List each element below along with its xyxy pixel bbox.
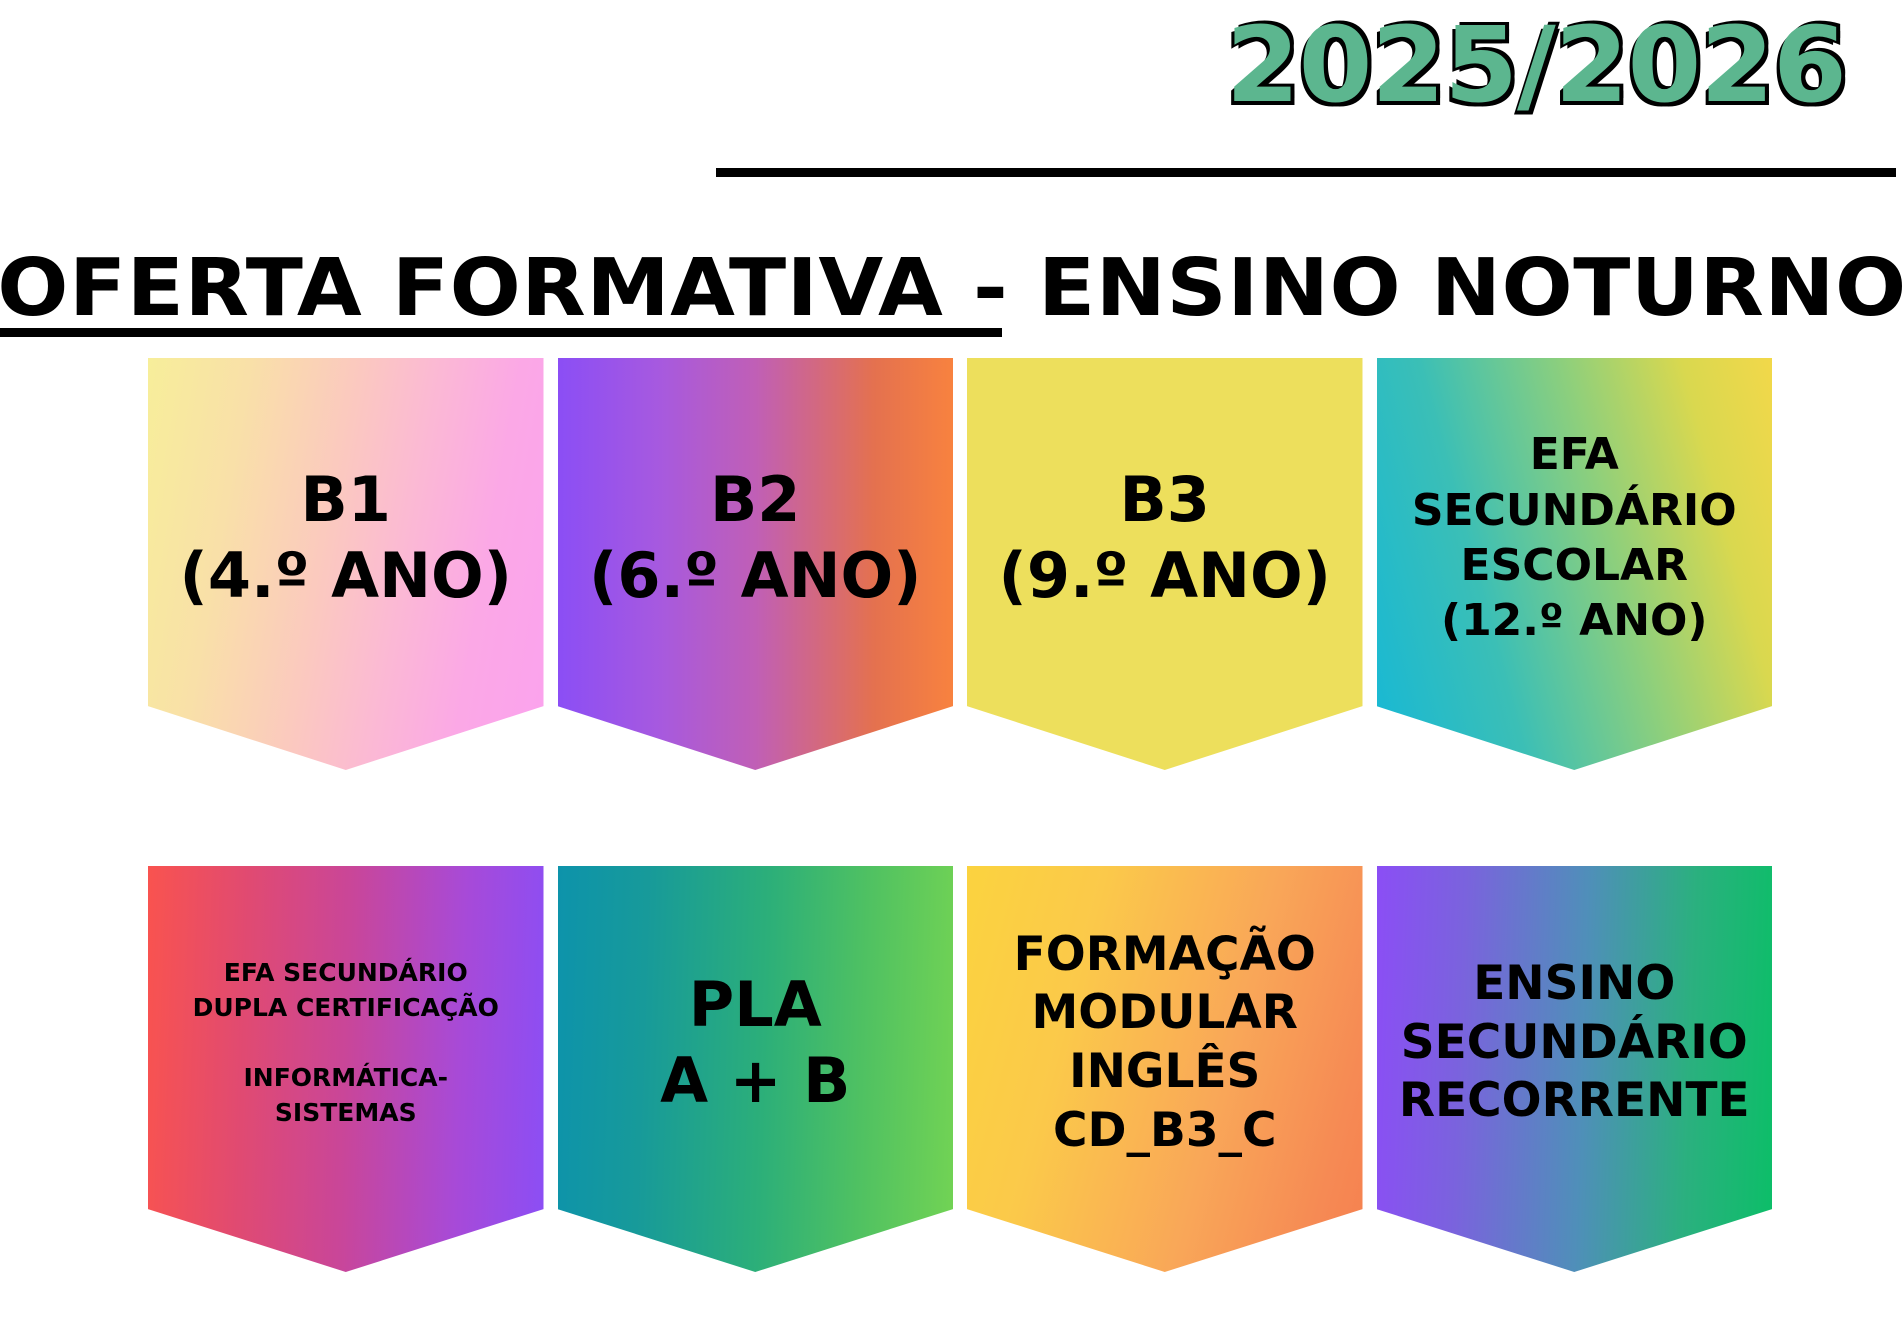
banner-line: CD_B3_C: [1053, 1102, 1277, 1161]
banner-card-b3[interactable]: B3 (9.º ANO): [967, 358, 1363, 770]
banner-line: FORMAÇÃO: [1014, 926, 1316, 985]
banner-card-pla[interactable]: PLA A + B: [558, 866, 954, 1272]
banner-line: B1: [301, 462, 391, 538]
banner-line: A + B: [660, 1043, 850, 1119]
banner-line: PLA: [689, 967, 822, 1043]
banner-line: ESCOLAR: [1461, 538, 1688, 593]
page-title: OFERTA FORMATIVA - ENSINO NOTURNO: [0, 249, 1904, 328]
banner-line: EFA SECUNDÁRIO: [224, 956, 468, 991]
banner-row-1: B1 (4.º ANO) B2 (6.º ANO) B3 (9.º ANO) E…: [148, 358, 1772, 770]
poster-canvas: 2025/2026 OFERTA FORMATIVA - ENSINO NOTU…: [0, 0, 1904, 1342]
banner-card-efa-secundario-escolar[interactable]: EFA SECUNDÁRIO ESCOLAR (12.º ANO): [1377, 358, 1773, 770]
banner-line: INGLÊS: [1069, 1043, 1260, 1102]
banner-line: (4.º ANO): [180, 538, 513, 614]
divider-top: [716, 168, 1896, 177]
banner-card-ensino-secundario-recorrente[interactable]: ENSINO SECUNDÁRIO RECORRENTE: [1377, 866, 1773, 1272]
banner-line: MODULAR: [1032, 984, 1298, 1043]
banner-card-efa-secundario-dupla-certificacao[interactable]: EFA SECUNDÁRIO DUPLA CERTIFICAÇÃO INFORM…: [148, 866, 544, 1272]
banner-line: EFA: [1530, 427, 1619, 482]
banner-card-b2[interactable]: B2 (6.º ANO): [558, 358, 954, 770]
banner-line: SECUNDÁRIO: [1401, 1014, 1748, 1073]
banner-line: SECUNDÁRIO: [1412, 483, 1737, 538]
banner-line: RECORRENTE: [1399, 1072, 1750, 1131]
banner-card-formacao-modular-ingles[interactable]: FORMAÇÃO MODULAR INGLÊS CD_B3_C: [967, 866, 1363, 1272]
school-year-label: 2025/2026: [1226, 8, 1846, 122]
banner-line: SISTEMAS: [275, 1096, 417, 1131]
banner-line: ENSINO: [1473, 955, 1675, 1014]
banner-card-b1[interactable]: B1 (4.º ANO): [148, 358, 544, 770]
banner-line: DUPLA CERTIFICAÇÃO: [193, 991, 499, 1026]
divider-bottom: [0, 328, 1002, 337]
banner-line: (9.º ANO): [999, 538, 1332, 614]
banner-line: B3: [1120, 462, 1210, 538]
banner-line: (12.º ANO): [1441, 593, 1708, 648]
banner-line: INFORMÁTICA-: [243, 1061, 448, 1096]
banner-line: B2: [710, 462, 800, 538]
banner-line: (6.º ANO): [589, 538, 922, 614]
banner-row-2: EFA SECUNDÁRIO DUPLA CERTIFICAÇÃO INFORM…: [148, 866, 1772, 1272]
